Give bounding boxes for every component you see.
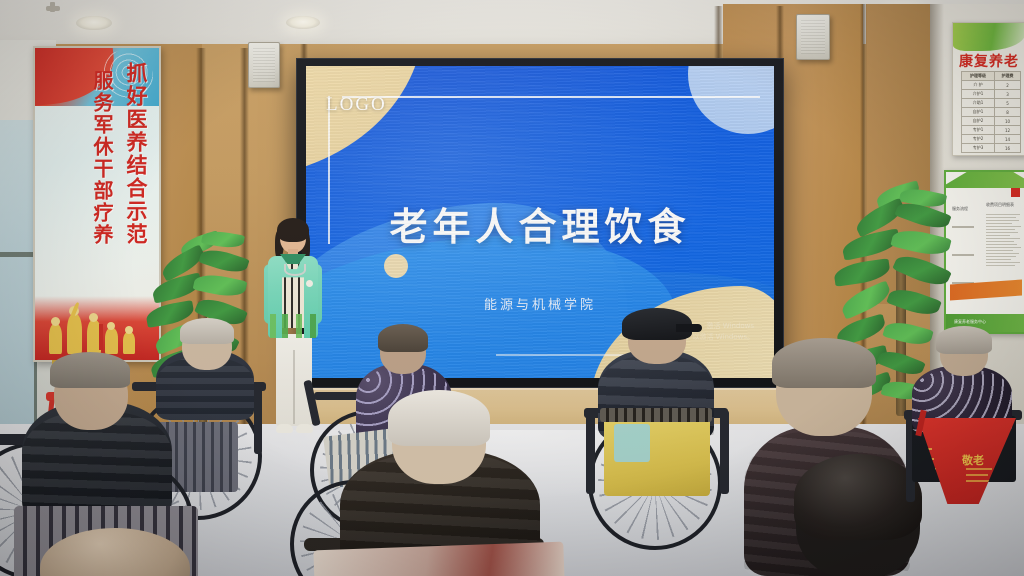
- presenter-badge: [306, 280, 313, 287]
- slide-shape-top-left: [306, 66, 424, 178]
- window-mullion: [0, 252, 34, 257]
- audience-person-far-right: 敬老: [896, 336, 1024, 556]
- grey-hair: [50, 352, 130, 388]
- wall-speaker-icon: [796, 14, 830, 60]
- seatback-plaid: [600, 408, 712, 422]
- wall-speaker-icon: [248, 42, 280, 88]
- table-row: 介助15: [962, 99, 1021, 108]
- audience-person-center-front: [330, 406, 590, 576]
- grey-hair: [936, 326, 992, 354]
- table-row: 自护210: [962, 117, 1021, 126]
- white-hair: [180, 318, 234, 344]
- photo-scene: ★ 抓好医养结合示范 服务军休干部疗养 军休干部疗养中心 康复养老: [0, 0, 1024, 576]
- banner-text-left-column: 服务军休干部疗养: [88, 70, 117, 246]
- slide-circle-accent: [384, 254, 408, 278]
- poster-pricing-table: 护理等级 护理费 介 护2 介护13 介助15 自护18 自护210 专护112…: [961, 71, 1021, 153]
- table-row: 专护214: [962, 135, 1021, 144]
- poster-title: 康复养老: [959, 51, 1019, 71]
- table-row: 专护316: [962, 144, 1021, 153]
- hair-bun: [378, 324, 428, 352]
- table-row: 专护112: [962, 126, 1021, 135]
- audience-person-bottom-front: [40, 528, 200, 576]
- white-hair: [388, 390, 490, 446]
- recessed-downlight-icon: [76, 16, 112, 30]
- table-row: 介 护2: [962, 81, 1021, 90]
- short-grey-hair: [772, 338, 876, 388]
- slide-shape-top-right: [688, 66, 774, 134]
- blanket-patch: [614, 424, 650, 462]
- head: [40, 528, 190, 576]
- ceiling-sprinkler-stem: [50, 2, 55, 12]
- table-row: 自护18: [962, 108, 1021, 117]
- table-header-cell: 护理等级: [962, 72, 995, 81]
- cap-brim: [676, 324, 702, 332]
- poster-care-pricing: 康复养老 护理等级 护理费 介 护2 介护13 介助15 自护18 自护210 …: [952, 22, 1024, 156]
- recessed-downlight-icon: [286, 16, 320, 29]
- presenter-necklace: [284, 264, 306, 276]
- slide-title: 老年人合理饮食: [306, 196, 774, 251]
- slide-subtitle: 能源与机械学院: [306, 294, 774, 313]
- red-seal-icon: [1011, 188, 1020, 197]
- poster-right-column: 收费项目明细表: [986, 202, 1024, 268]
- table-header-cell: 护理费: [994, 72, 1020, 81]
- slide-logo-placeholder: LOGO: [326, 94, 387, 116]
- presenter-hair: [277, 218, 309, 242]
- audience-person-center-right: [580, 312, 760, 542]
- table-row: 介护13: [962, 90, 1021, 99]
- banner-text-right-column: 抓好医养结合示范: [121, 62, 151, 246]
- wall-banner-slogan: ★ 抓好医养结合示范 服务军休干部疗养: [33, 46, 161, 362]
- slide-rule-top: [342, 96, 760, 98]
